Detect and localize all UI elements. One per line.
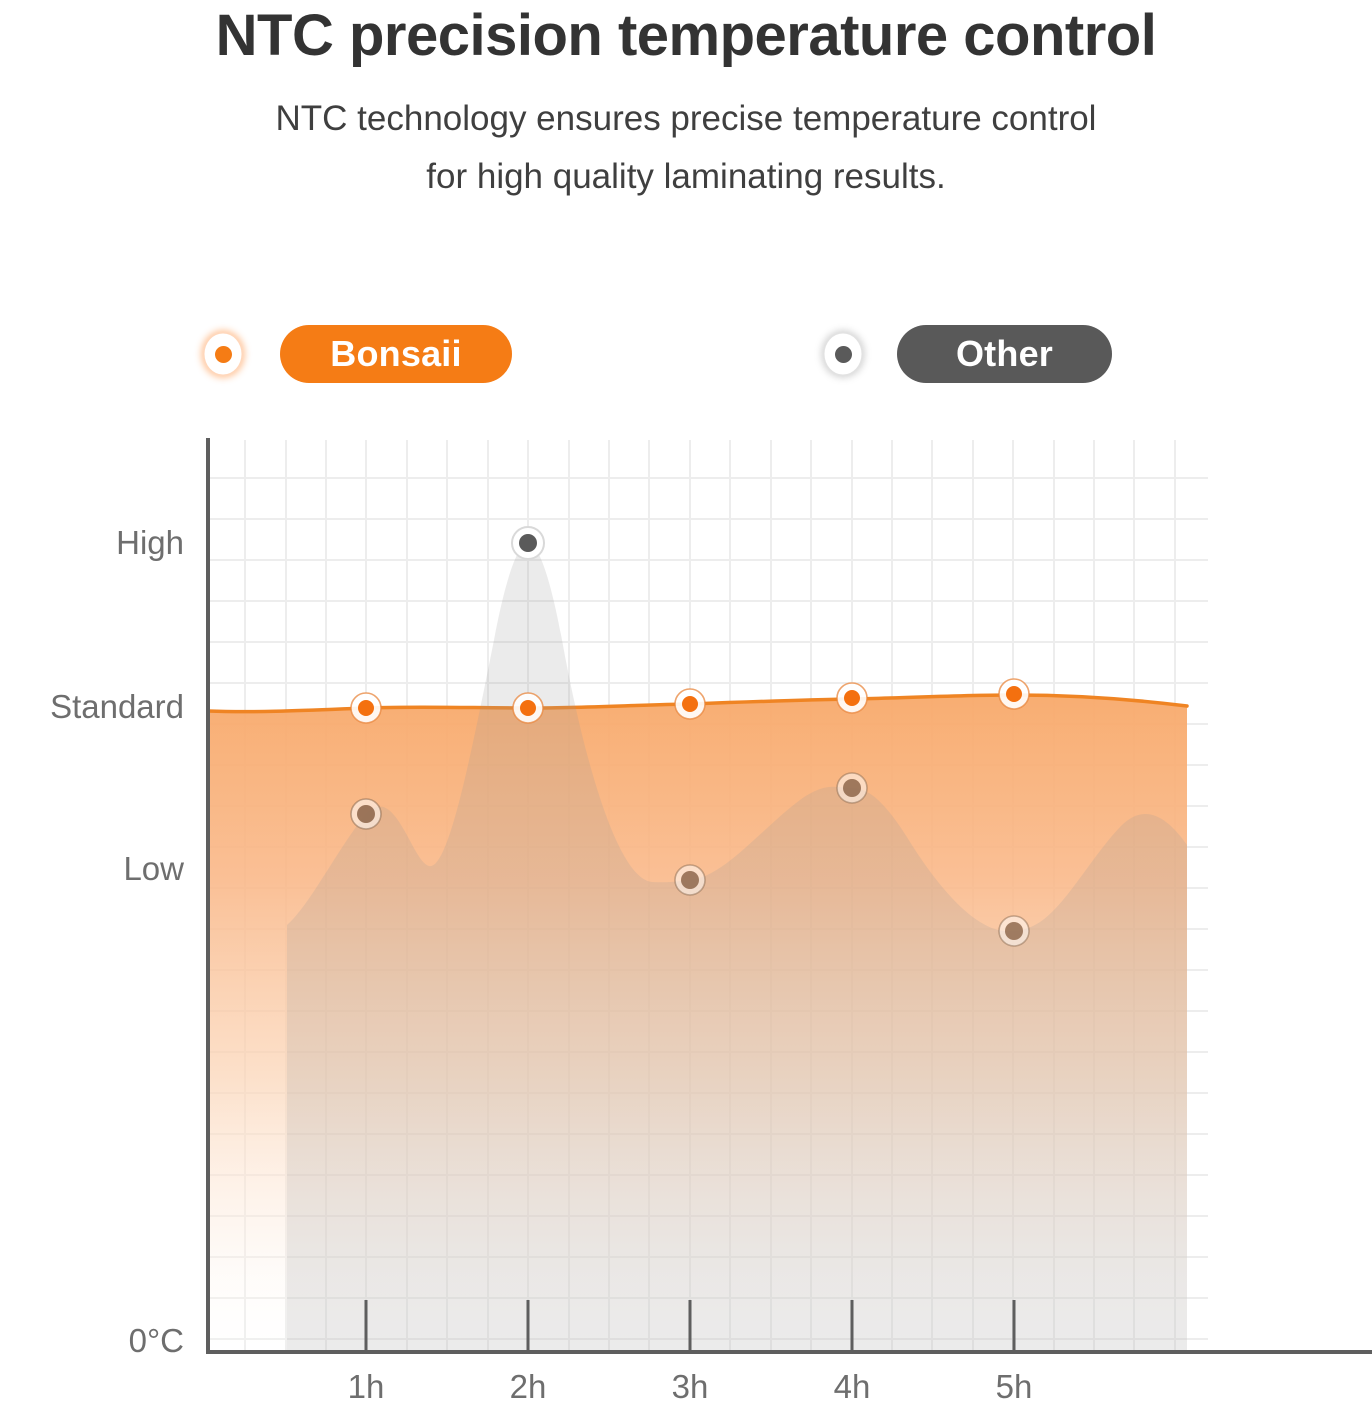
page-subtitle: NTC technology ensures precise temperatu… [96, 90, 1276, 206]
series-area-other [287, 543, 1187, 1352]
data-point-other-5h[interactable] [999, 916, 1029, 946]
chart-gridlines [208, 440, 1208, 1352]
page-title: NTC precision temperature control [0, 0, 1372, 72]
series-area-bonsaii [208, 695, 1187, 1352]
data-point-other-2h[interactable] [512, 527, 544, 559]
legend-item-bonsaii[interactable]: Bonsaii [203, 318, 512, 390]
data-point-other-3h[interactable] [675, 865, 705, 895]
legend-item-other[interactable]: Other [823, 318, 1112, 390]
radio-dot-icon [203, 332, 243, 376]
data-point-bonsaii-4h[interactable] [837, 683, 867, 713]
page-subtitle-line-1: NTC technology ensures precise temperatu… [96, 90, 1276, 148]
x-axis-label-1h: 1h [326, 1368, 406, 1406]
x-axis-label-5h: 5h [974, 1368, 1054, 1406]
data-point-bonsaii-5h[interactable] [999, 679, 1029, 709]
radio-dot-icon [823, 332, 863, 376]
data-point-bonsaii-3h[interactable] [675, 689, 705, 719]
chart-canvas [0, 0, 1372, 1413]
legend-marker-dot [835, 346, 852, 363]
chart-axes [206, 438, 1372, 1353]
header: NTC precision temperature control NTC te… [0, 0, 1372, 206]
series-points-bonsaii [351, 679, 1029, 723]
data-point-other-4h[interactable] [837, 773, 867, 803]
y-axis-label-standard: Standard [50, 688, 184, 726]
y-axis-label-zero: 0°C [129, 1322, 184, 1360]
series-points-other [351, 527, 1029, 946]
page-subtitle-line-2: for high quality laminating results. [96, 148, 1276, 206]
data-point-bonsaii-1h[interactable] [351, 693, 381, 723]
data-point-bonsaii-2h[interactable] [513, 693, 543, 723]
x-axis-label-4h: 4h [812, 1368, 892, 1406]
y-axis-label-high: High [116, 524, 184, 562]
y-axis-label-low: Low [123, 850, 184, 888]
data-point-other-1h[interactable] [351, 799, 381, 829]
legend-label-other[interactable]: Other [897, 325, 1112, 383]
x-axis-label-3h: 3h [650, 1368, 730, 1406]
legend-label-bonsaii[interactable]: Bonsaii [280, 325, 512, 383]
legend-marker-dot [215, 346, 232, 363]
temperature-chart: High Standard Low 0°C 1h 2h 3h 4h 5h [0, 0, 1372, 1413]
x-axis-label-2h: 2h [488, 1368, 568, 1406]
chart-legend: Bonsaii Other [0, 318, 1372, 408]
